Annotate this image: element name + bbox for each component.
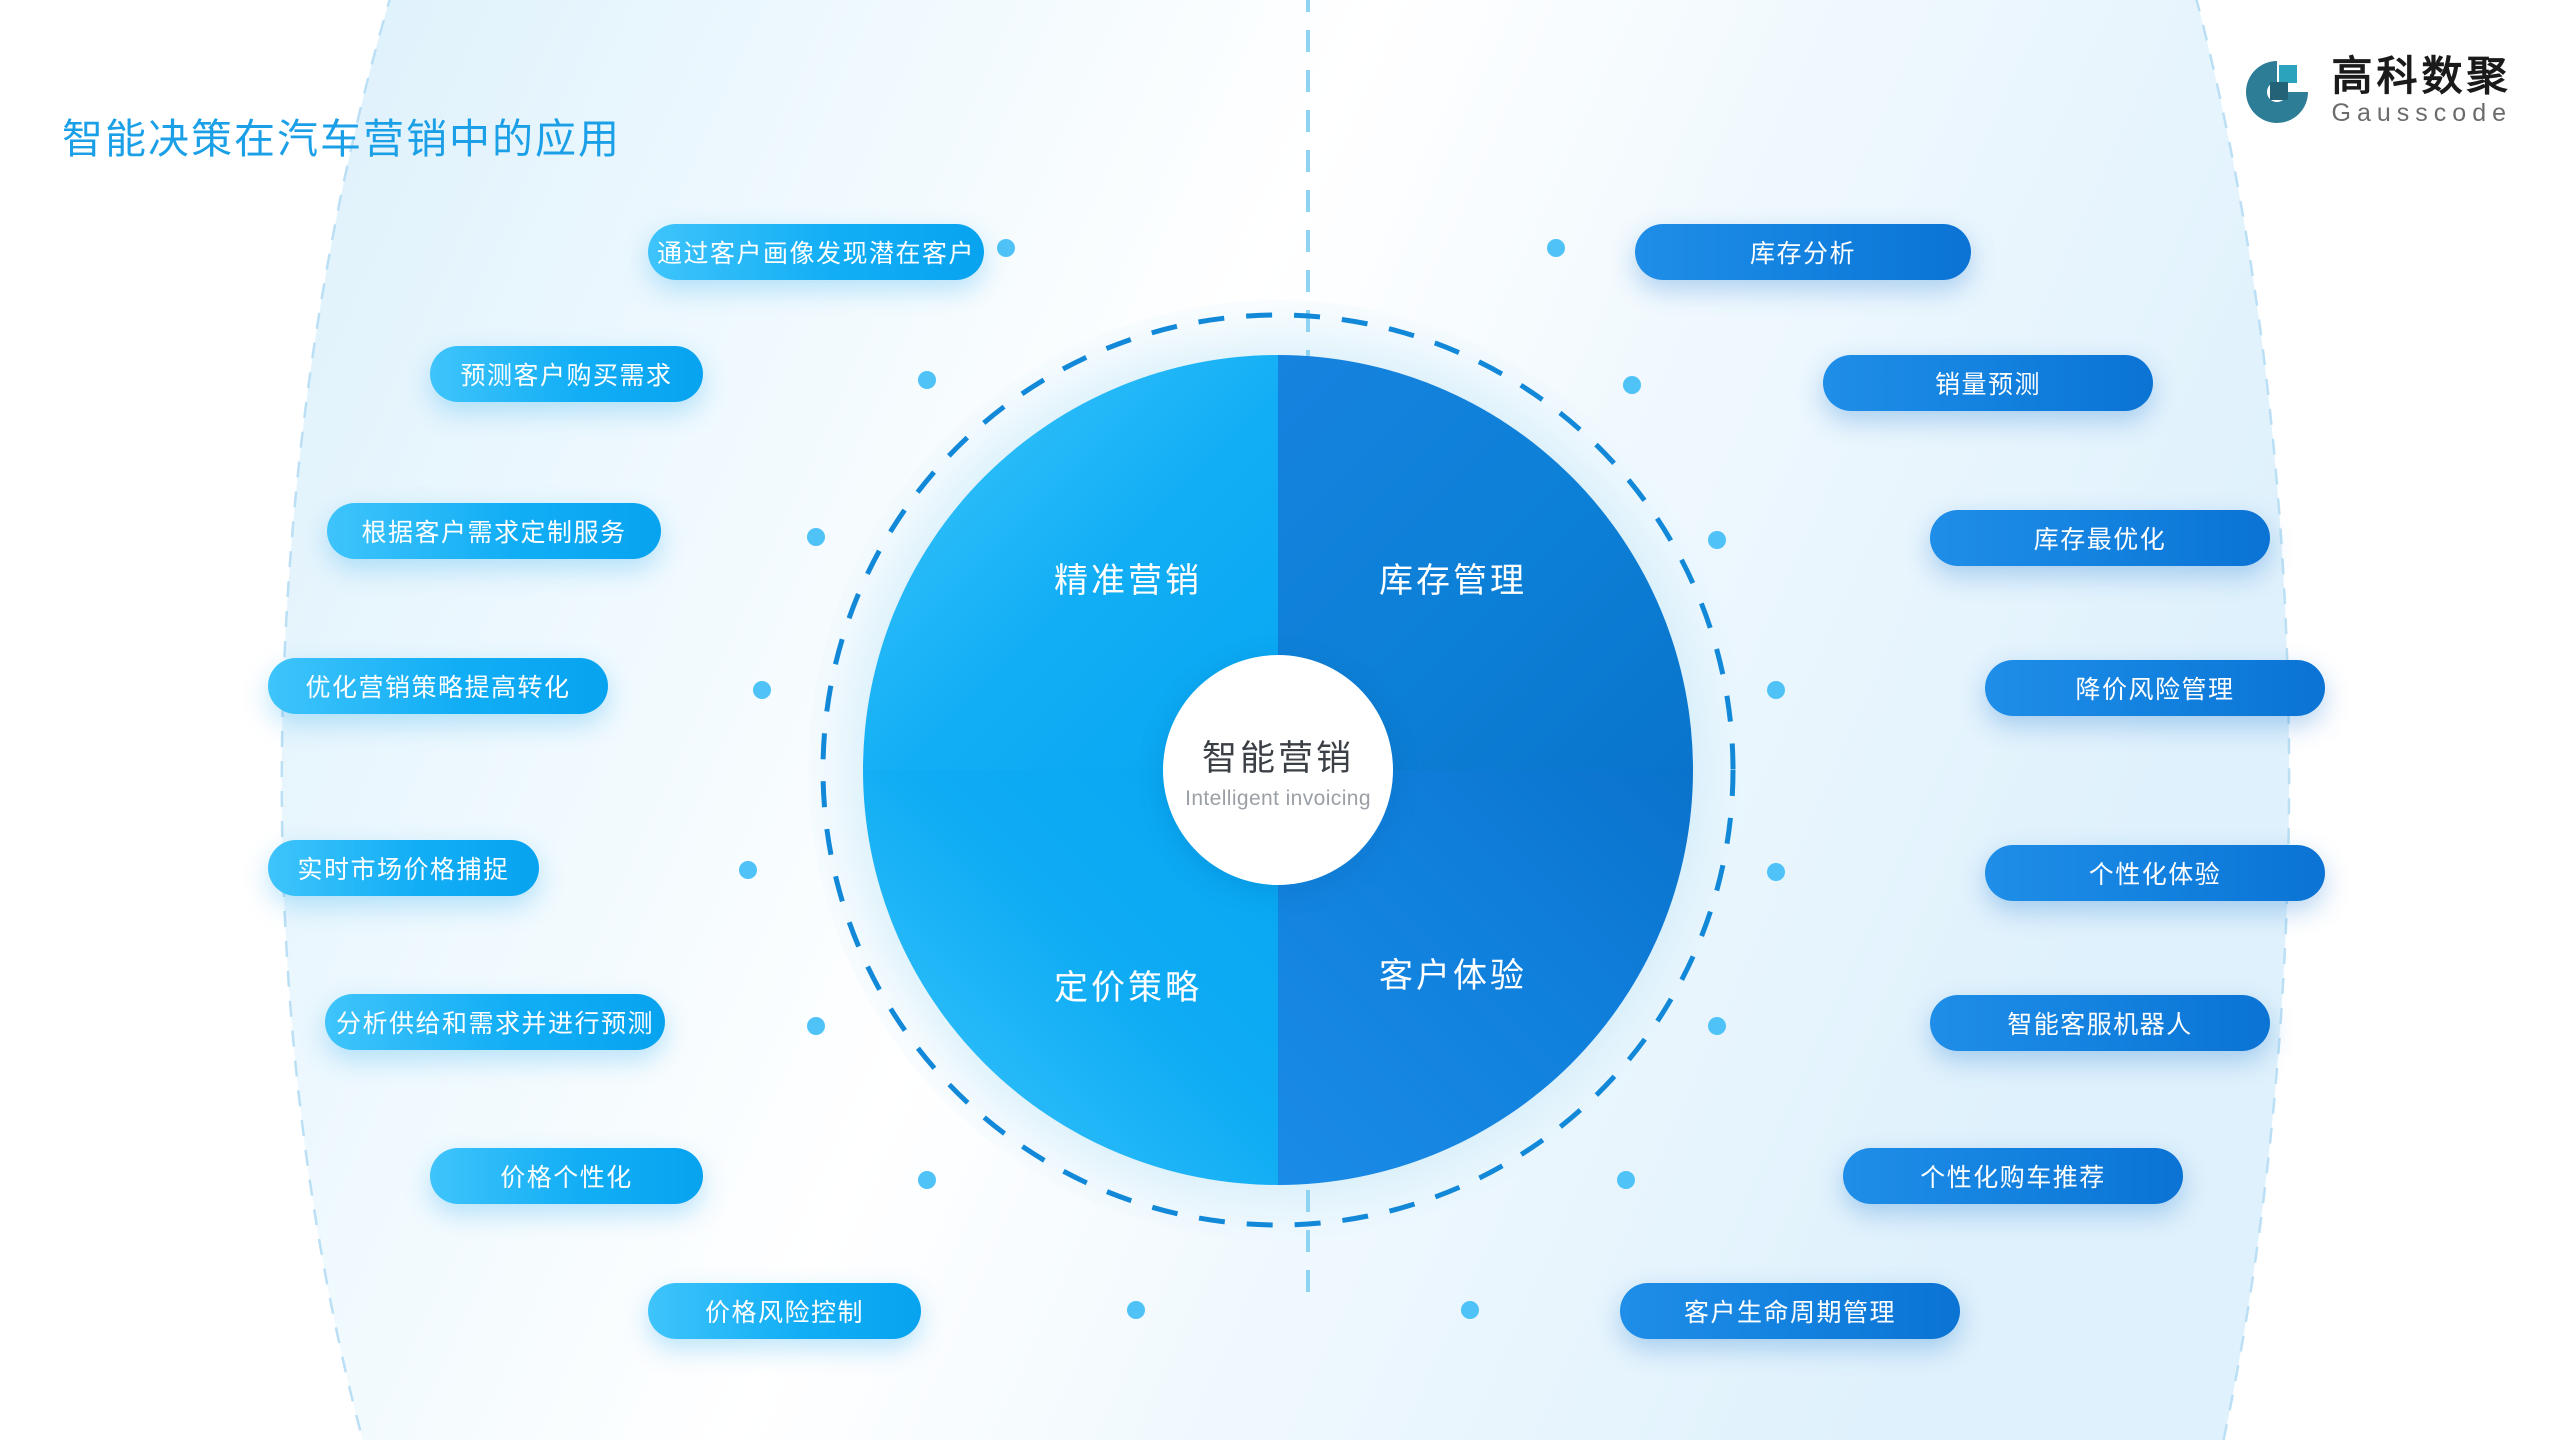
left-item-pill-4[interactable]: 优化营销策略提高转化 xyxy=(268,658,608,714)
core-hub: 智能营销 Intelligent invoicing xyxy=(1163,655,1393,885)
pill-label: 智能客服机器人 xyxy=(2007,1005,2193,1041)
right-item-pill-6[interactable]: 智能客服机器人 xyxy=(1930,995,2270,1051)
connector-dot xyxy=(1461,1301,1479,1319)
left-item-pill-5[interactable]: 实时市场价格捕捉 xyxy=(268,840,539,896)
connector-dot xyxy=(1127,1301,1145,1319)
quadrant-label-top-right: 库存管理 xyxy=(1338,553,1568,602)
right-item-pill-3[interactable]: 库存最优化 xyxy=(1930,510,2270,566)
pill-label: 库存分析 xyxy=(1750,234,1856,270)
pill-label: 销量预测 xyxy=(1935,365,2041,401)
left-item-pill-2[interactable]: 预测客户购买需求 xyxy=(430,346,703,402)
left-item-pill-1[interactable]: 通过客户画像发现潜在客户 xyxy=(648,224,984,280)
pill-label: 客户生命周期管理 xyxy=(1684,1293,1896,1329)
connector-dot xyxy=(1708,531,1726,549)
right-item-pill-2[interactable]: 销量预测 xyxy=(1823,355,2153,411)
quadrant-label-bottom-left: 定价策略 xyxy=(1013,960,1243,1009)
connector-dot xyxy=(807,1017,825,1035)
pill-label: 个性化体验 xyxy=(2089,855,2222,891)
connector-dot xyxy=(1708,1017,1726,1035)
pill-label: 根据客户需求定制服务 xyxy=(361,513,626,549)
right-item-pill-4[interactable]: 降价风险管理 xyxy=(1985,660,2325,716)
connector-dot xyxy=(997,239,1015,257)
quadrant-label-top-left: 精准营销 xyxy=(1013,553,1243,602)
infographic-canvas: 智能决策在汽车营销中的应用 高科数聚 Gausscode xyxy=(0,0,2560,1440)
pill-label: 优化营销策略提高转化 xyxy=(305,668,570,704)
left-item-pill-6[interactable]: 分析供给和需求并进行预测 xyxy=(325,994,665,1050)
pill-label: 库存最优化 xyxy=(2034,520,2167,556)
right-item-pill-7[interactable]: 个性化购车推荐 xyxy=(1843,1148,2183,1204)
connector-dot xyxy=(739,861,757,879)
connector-dot xyxy=(1767,681,1785,699)
right-item-pill-1[interactable]: 库存分析 xyxy=(1635,224,1971,280)
connector-dot xyxy=(807,528,825,546)
right-item-pill-8[interactable]: 客户生命周期管理 xyxy=(1620,1283,1960,1339)
quadrant-label-bottom-right: 客户体验 xyxy=(1338,948,1568,997)
pill-label: 价格个性化 xyxy=(500,1158,633,1194)
pill-label: 分析供给和需求并进行预测 xyxy=(336,1004,654,1040)
pill-label: 预测客户购买需求 xyxy=(460,356,672,392)
connector-dot xyxy=(1767,863,1785,881)
left-item-pill-8[interactable]: 价格风险控制 xyxy=(648,1283,921,1339)
left-item-pill-3[interactable]: 根据客户需求定制服务 xyxy=(327,503,661,559)
core-title-cn: 智能营销 xyxy=(1202,730,1354,781)
core-title-en: Intelligent invoicing xyxy=(1185,787,1371,811)
connector-dot xyxy=(1547,239,1565,257)
right-item-pill-5[interactable]: 个性化体验 xyxy=(1985,845,2325,901)
pill-label: 通过客户画像发现潜在客户 xyxy=(657,234,975,270)
pill-label: 实时市场价格捕捉 xyxy=(297,850,509,886)
pill-label: 价格风险控制 xyxy=(705,1293,864,1329)
pill-label: 降价风险管理 xyxy=(2075,670,2234,706)
pill-label: 个性化购车推荐 xyxy=(1920,1158,2106,1194)
connector-dot xyxy=(753,681,771,699)
left-item-pill-7[interactable]: 价格个性化 xyxy=(430,1148,703,1204)
